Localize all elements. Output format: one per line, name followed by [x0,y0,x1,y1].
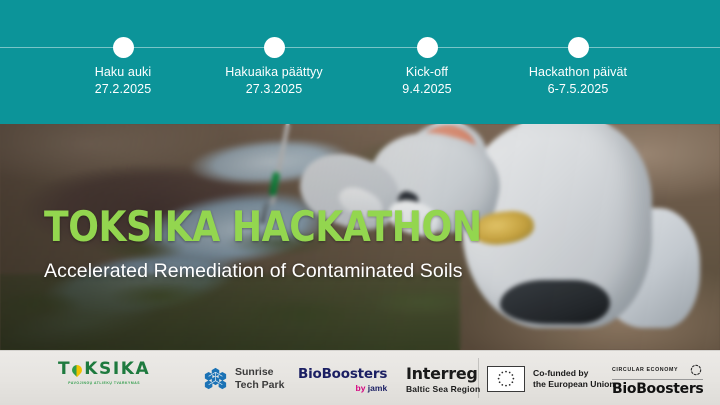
divider [478,358,479,398]
hexagon-cluster-icon [203,366,228,391]
logo-bioboosters[interactable]: BioBoosters by jamk [298,368,387,392]
droplet-icon [72,364,83,376]
logo-sunrise-tech-park[interactable]: Sunrise Tech Park [203,366,284,392]
circular-arrow-icon [689,363,703,377]
interreg-programme: Baltic Sea Region [406,384,480,394]
circular-economy-kicker: CIRCULAR ECONOMY [612,367,678,373]
milestone-label: Hakuaika päättyy [199,64,349,81]
timeline-milestone-4[interactable]: Hackathon päivät 6-7.5.2025 [503,37,653,98]
byline-brand: jamk [368,383,387,393]
logo-toksika[interactable]: T KSIKA PAVOJINGŲ ATLIEKŲ TVARKYMAS [58,361,150,385]
page-subtitle: Accelerated Remediation of Contaminated … [44,260,553,283]
bioboosters-byline: by jamk [356,384,388,393]
logo-eu-cofunding[interactable]: Co-funded by the European Union [487,366,615,392]
toksika-hackathon-banner: Haku auki 27.2.2025 Hakuaika päättyy 27.… [0,0,720,405]
sunrise-line-2: Tech Park [235,379,284,392]
toksika-wordmark: T KSIKA [58,361,150,378]
eu-stars [488,367,524,391]
toksika-tagline: PAVOJINGŲ ATLIEKŲ TVARKYMAS [68,381,140,385]
milestone-label: Hackathon päivät [503,64,653,81]
page-title: TOKSIKA HACKATHON [44,206,482,248]
milestone-label: Kick-off [352,64,502,81]
ce-bioboosters-wordmark: BioBoosters [612,382,703,396]
milestone-dot [264,37,285,58]
divider [612,379,703,380]
toksika-word-part-2: KSIKA [84,361,150,378]
eu-cofunding-text: Co-funded by the European Union [533,368,615,391]
logo-interreg[interactable]: Interreg Baltic Sea Region [406,366,480,394]
toksika-word-part-1: T [58,361,71,378]
eu-flag-icon [487,366,525,392]
eu-line-2: the European Union [533,379,615,390]
logo-circular-economy-bioboosters[interactable]: CIRCULAR ECONOMY BioBoosters [612,363,703,396]
partner-logo-bar: T KSIKA PAVOJINGŲ ATLIEKŲ TVARKYMAS [0,350,720,405]
sunrise-line-1: Sunrise [235,366,284,379]
sunrise-wordmark: Sunrise Tech Park [235,366,284,392]
milestone-date: 27.2.2025 [48,81,198,98]
hero-text-block: TOKSIKA HACKATHON Accelerated Remediatio… [44,206,553,283]
timeline-milestone-1[interactable]: Haku auki 27.2.2025 [48,37,198,98]
milestone-dot [568,37,589,58]
timeline-milestone-3[interactable]: Kick-off 9.4.2025 [352,37,502,98]
milestone-dot [417,37,438,58]
interreg-wordmark: Interreg [406,366,478,382]
milestone-date: 6-7.5.2025 [503,81,653,98]
timeline-header: Haku auki 27.2.2025 Hakuaika päättyy 27.… [0,0,720,124]
milestone-date: 27.3.2025 [199,81,349,98]
milestone-date: 9.4.2025 [352,81,502,98]
bioboosters-wordmark: BioBoosters [298,368,387,382]
milestone-label: Haku auki [48,64,198,81]
milestone-dot [113,37,134,58]
timeline-milestone-2[interactable]: Hakuaika päättyy 27.3.2025 [199,37,349,98]
eu-line-1: Co-funded by [533,368,615,379]
byline-prefix: by [356,383,368,393]
